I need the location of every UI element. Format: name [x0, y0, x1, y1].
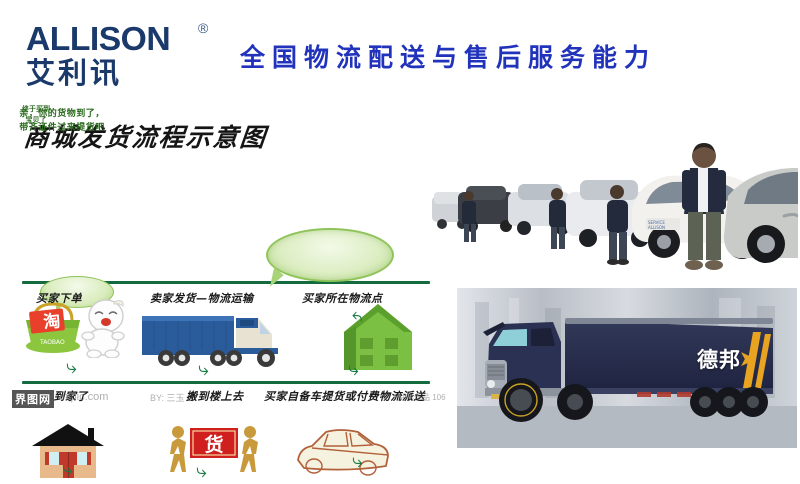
deppon-truck-photo: 德邦 ➤ — [457, 288, 797, 448]
logo-chinese-name: 艾利讯 — [26, 58, 206, 88]
svg-text:TAOBAO: TAOBAO — [39, 339, 65, 346]
flow-arrow-ship: ⤷ — [198, 360, 209, 379]
deppon-arrow-icon: ➤ — [739, 346, 757, 372]
svg-text:淘: 淘 — [42, 310, 61, 333]
flow-label-pickup: 买家自备车提货或付费物流派送 — [264, 388, 425, 404]
page-header: ALLISON ® 艾利讯 全国物流配送与售后服务能力 — [0, 0, 800, 100]
flow-arrow-upstair: ⤷ — [196, 462, 207, 481]
flow-arrow-station: ⤷ — [348, 360, 359, 379]
flow-label-home: 提到家了 — [42, 388, 88, 404]
flow-divider-bottom — [22, 381, 430, 384]
shipping-flow-diagram: 商城发货流程示意图 终于买到 宝贝了 淘 TAOBAO — [0, 100, 445, 420]
registered-trademark-icon: ® — [198, 20, 208, 36]
flow-arrow-home: ⤷ — [62, 460, 73, 479]
page-title: 全国物流配送与售后服务能力 — [240, 38, 780, 74]
svg-text:货: 货 — [204, 433, 223, 456]
flow-arrow-order: ⤷ — [66, 358, 77, 377]
happy-baby-icon — [76, 296, 134, 358]
delivery-notice-bubble-tail — [270, 267, 285, 289]
flow-label-order: 买家下单 — [36, 290, 82, 306]
semi-truck-icon — [140, 304, 292, 374]
delivery-notice-text: 亲，你的货物到了， 带齐证件过来提货吧 — [0, 108, 124, 136]
brand-logo: ALLISON ® 艾利讯 — [26, 22, 206, 84]
service-fleet-photo: SERVICE ALLISON — [432, 112, 798, 274]
flow-arrow-pickup: ⤷ — [352, 452, 363, 471]
deppon-brand-label: 德邦 — [697, 344, 741, 374]
flow-label-ship: 卖家发货—物流运输 — [150, 290, 254, 306]
car-sketch-icon — [288, 422, 396, 482]
delivery-notice-bubble — [266, 228, 394, 282]
movers-crate-icon: 货 — [160, 420, 268, 482]
flow-label-upstair: 搬到楼上去 — [186, 388, 244, 404]
logo-wordmark: ALLISON — [26, 22, 210, 55]
flow-label-station: 买家所在物流点 — [302, 290, 383, 306]
flow-arrow-return: ⤷ — [352, 308, 363, 327]
shopping-basket-icon: 淘 TAOBAO — [22, 300, 84, 356]
svg-text:ALLISON: ALLISON — [648, 225, 665, 230]
